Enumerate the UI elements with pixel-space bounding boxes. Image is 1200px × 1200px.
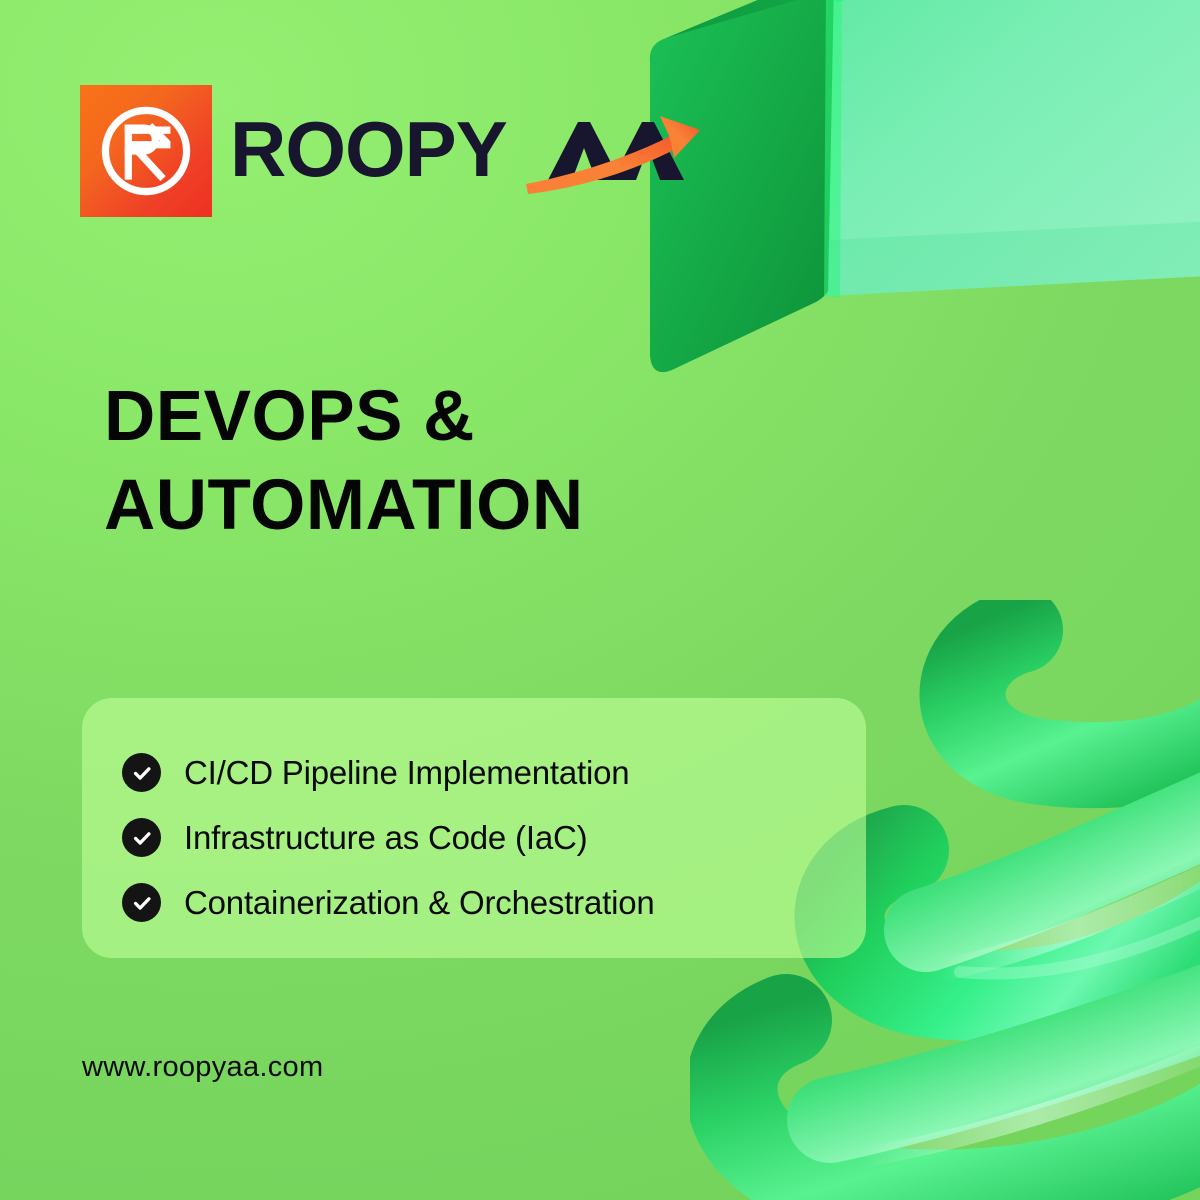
list-item: Infrastructure as Code (IaC) [122, 805, 866, 870]
list-item-label: Containerization & Orchestration [184, 884, 655, 922]
brand-wordmark: ROOPY [230, 108, 700, 194]
check-circle-icon [122, 818, 161, 857]
check-circle-icon [122, 753, 161, 792]
poster-canvas: ROOPY DEVOPS & AUTOMATION CI/CD Pipeline [0, 0, 1200, 1200]
list-item-label: CI/CD Pipeline Implementation [184, 754, 629, 792]
rupee-circle-icon [80, 85, 212, 217]
list-item: CI/CD Pipeline Implementation [122, 740, 866, 805]
features-card: CI/CD Pipeline Implementation Infrastruc… [82, 698, 866, 958]
website-url[interactable]: www.roopyaa.com [82, 1051, 323, 1084]
svg-text:ROOPY: ROOPY [230, 108, 507, 193]
check-circle-icon [122, 883, 161, 922]
brand-logo[interactable]: ROOPY [80, 85, 700, 217]
list-item: Containerization & Orchestration [122, 870, 866, 935]
page-title: DEVOPS & AUTOMATION [104, 372, 804, 551]
growth-arrow-icon [526, 116, 700, 194]
list-item-label: Infrastructure as Code (IaC) [184, 819, 587, 857]
